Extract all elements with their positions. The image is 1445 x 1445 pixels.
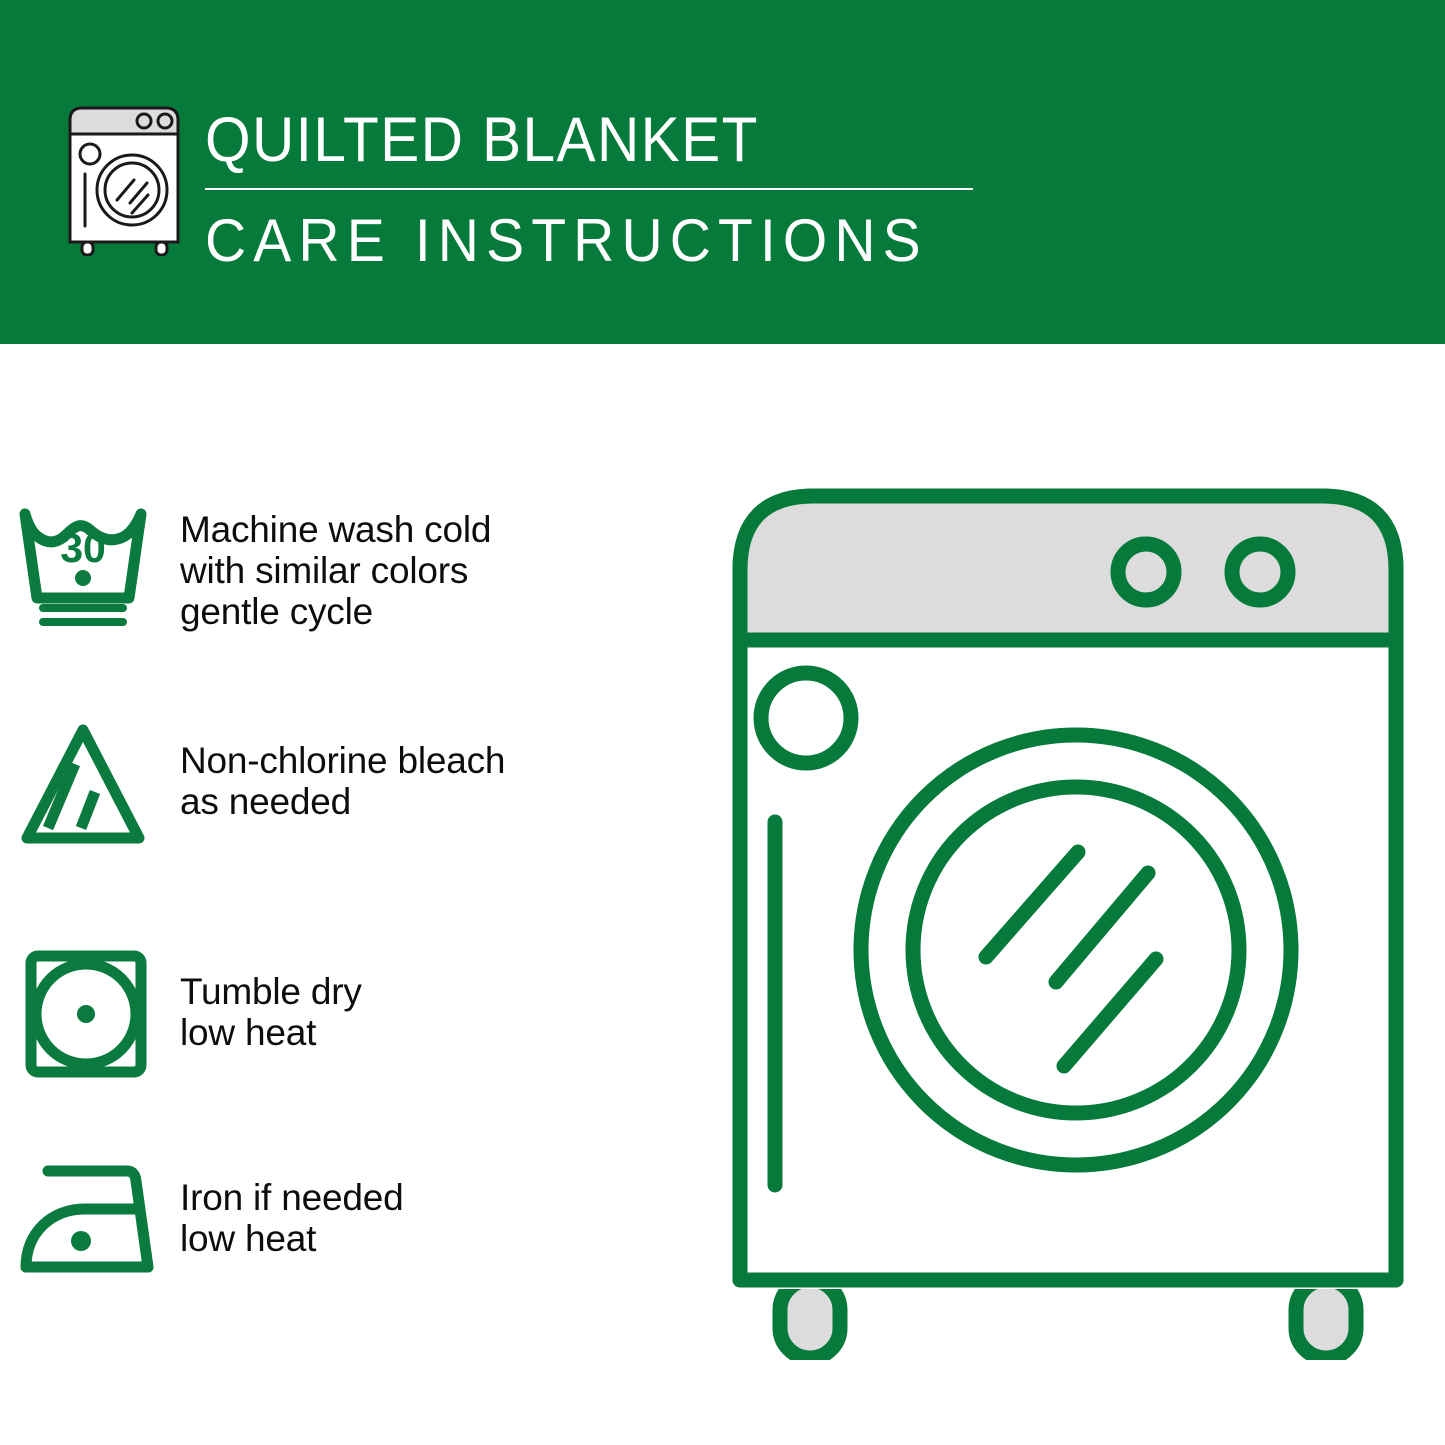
page-subtitle: CARE INSTRUCTIONS	[205, 207, 956, 275]
care-text-tumble-dry: Tumble dry low heat	[180, 944, 362, 1053]
washing-machine-illustration	[718, 470, 1418, 1360]
care-instructions-page: QUILTED BLANKET CARE INSTRUCTIONS 30	[0, 0, 1445, 1445]
machine-leg	[780, 1280, 840, 1358]
non-chlorine-bleach-triangle-icon	[0, 716, 180, 856]
care-row-bleach: Non-chlorine bleach as needed	[0, 716, 700, 856]
page-header: QUILTED BLANKET CARE INSTRUCTIONS	[0, 0, 1445, 344]
care-row-tumble-dry: Tumble dry low heat	[0, 944, 700, 1084]
washing-machine-icon	[62, 104, 190, 256]
control-panel	[740, 496, 1396, 640]
wash-basin-30-icon: 30	[0, 492, 180, 632]
title-divider	[205, 188, 973, 190]
care-text-iron: Iron if needed low heat	[180, 1149, 403, 1259]
care-text-bleach: Non-chlorine bleach as needed	[180, 716, 505, 822]
iron-low-heat-icon	[0, 1149, 180, 1289]
care-instruction-list: 30 Machine wash cold with similar colors…	[0, 344, 700, 1445]
machine-leg	[1296, 1280, 1356, 1358]
page-title: QUILTED BLANKET	[205, 104, 940, 176]
care-text-wash: Machine wash cold with similar colors ge…	[180, 492, 491, 632]
wash-temperature-label: 30	[60, 525, 106, 571]
tumble-dry-low-icon	[0, 944, 180, 1084]
care-row-wash: 30 Machine wash cold with similar colors…	[0, 492, 700, 632]
care-row-iron: Iron if needed low heat	[0, 1149, 700, 1289]
header-text-block: QUILTED BLANKET CARE INSTRUCTIONS	[205, 104, 995, 275]
